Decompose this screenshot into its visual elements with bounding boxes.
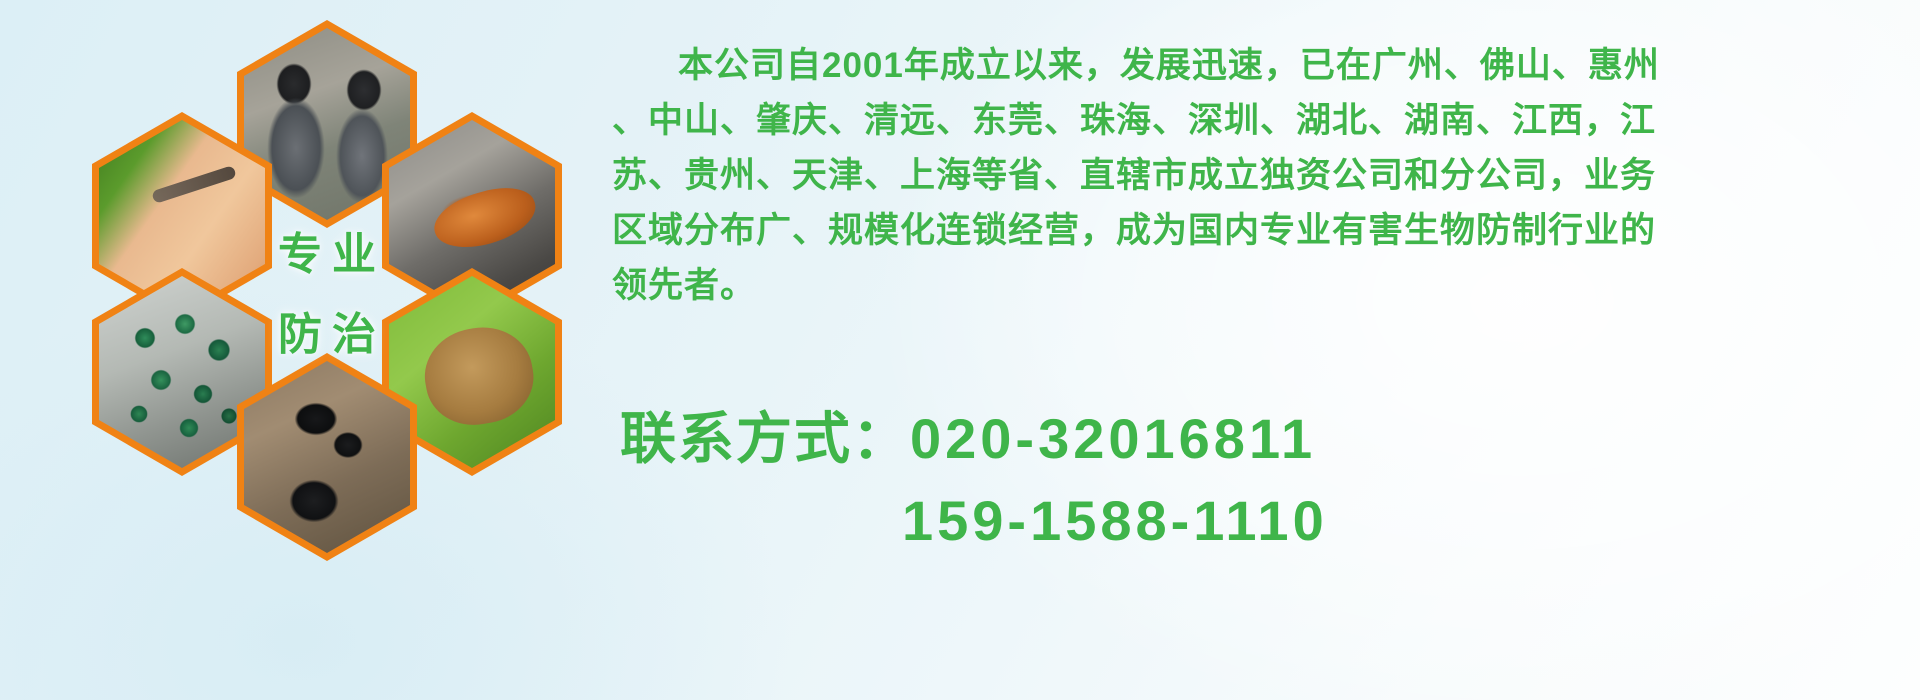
badge-line-1: 专业: [268, 218, 386, 282]
banner-stage: 专业 防治 本公司自2001年成立以来，发展迅速，已在广州、佛山、惠州 、中山、…: [0, 0, 1920, 700]
badge-line-2: 防治: [268, 298, 386, 362]
description-line: 苏、贵州、天津、上海等省、直辖市成立独资公司和分公司，业务: [612, 148, 1908, 203]
description-line: 本公司自2001年成立以来，发展迅速，已在广州、佛山、惠州: [612, 38, 1908, 93]
phone-number-primary[interactable]: 020-32016811: [910, 407, 1316, 470]
honeycomb-photo-collage: 专业 防治: [92, 8, 582, 568]
contact-secondary-line: 159-1588-1110: [620, 480, 1920, 562]
contact-primary-line: 联系方式：020-32016811: [620, 398, 1920, 480]
phone-number-secondary[interactable]: 159-1588-1110: [902, 489, 1328, 552]
contact-block: 联系方式：020-32016811 159-1588-1110: [620, 398, 1920, 562]
description-line: 区域分布广、规模化连锁经营，成为国内专业有害生物防制行业的: [612, 203, 1908, 258]
description-line: 、中山、肇庆、清远、东莞、珠海、深圳、湖北、湖南、江西，江: [612, 93, 1908, 148]
description-line: 领先者。: [612, 258, 1908, 313]
contact-label: 联系方式：: [620, 407, 910, 470]
company-description: 本公司自2001年成立以来，发展迅速，已在广州、佛山、惠州 、中山、肇庆、清远、…: [612, 38, 1908, 313]
